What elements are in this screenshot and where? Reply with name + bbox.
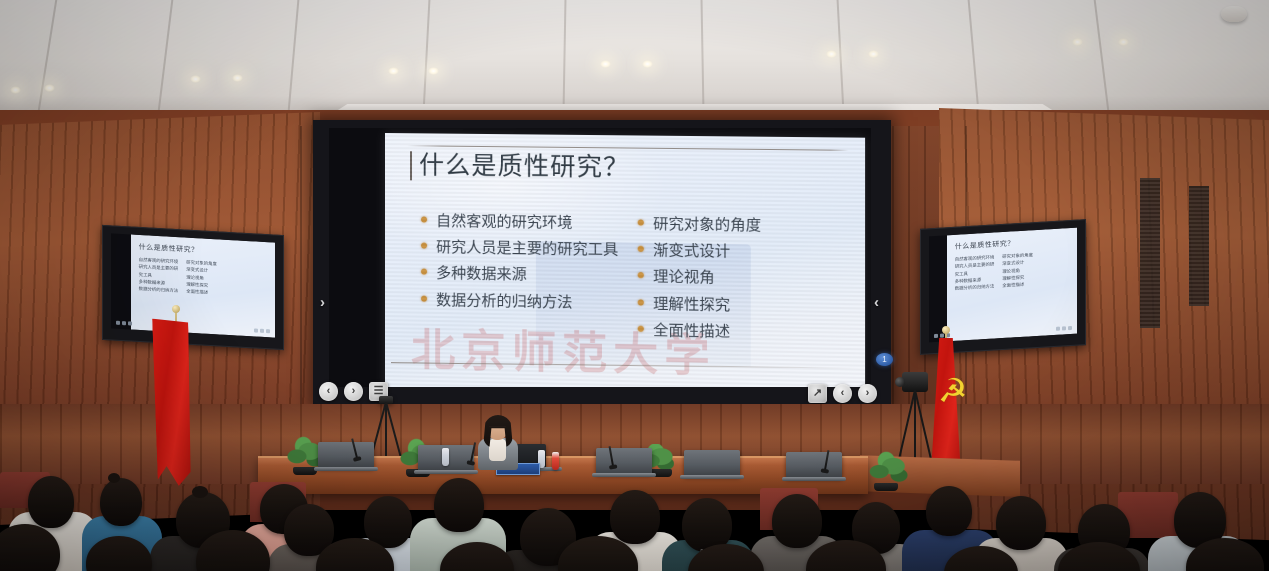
hammer-sickle-icon: ☭ bbox=[938, 372, 958, 412]
water-bottle bbox=[442, 448, 449, 466]
presenter-shirt bbox=[489, 439, 506, 461]
forward-button[interactable]: › bbox=[344, 382, 363, 401]
left-side-monitor[interactable]: 什么是质性研究？ 自然客观的研究环境 研究人员是主要的研 究工具 多种数据来源 … bbox=[102, 225, 284, 350]
ceiling-light bbox=[44, 84, 55, 92]
slide-bullets-left: 自然客观的研究环境 研究人员是主要的研究工具 多种数据来源 数据分析的归纳方法 bbox=[419, 209, 626, 318]
screen-left-edge-arrow[interactable]: › bbox=[320, 294, 325, 311]
ceiling-light bbox=[1072, 38, 1083, 46]
ceiling-light bbox=[600, 60, 611, 68]
screen-controls-right[interactable]: ↗ ‹ › bbox=[808, 384, 877, 403]
ceiling-light bbox=[868, 50, 879, 58]
slide-title: 什么是质性研究？ bbox=[410, 151, 630, 182]
list-item: 自然客观的研究环境 bbox=[419, 209, 626, 234]
ceiling-light bbox=[388, 67, 399, 75]
smoke-detector-icon bbox=[1221, 6, 1247, 22]
slide-bullets-right: 研究对象的角度 渐变式设计 理论视角 理解性探究 全面性描述 bbox=[636, 212, 842, 348]
right-flag-knob bbox=[942, 326, 950, 334]
projection-screen[interactable]: 北京师范大学 什么是质性研究？ 自然客观的研究环境 研究人员是主要的研究工具 多… bbox=[329, 128, 871, 387]
next-slide-button[interactable]: › bbox=[858, 384, 877, 403]
list-item: 全面性描述 bbox=[636, 318, 842, 344]
list-item: 理论视角 bbox=[636, 265, 842, 291]
ceiling-light bbox=[826, 50, 837, 58]
back-button[interactable]: ‹ bbox=[319, 382, 338, 401]
prev-slide-button[interactable]: ‹ bbox=[833, 384, 852, 403]
screen-right-edge-arrow[interactable]: ‹ bbox=[874, 294, 879, 311]
audience: acmé de la vie ADLV bbox=[0, 470, 1269, 571]
wall-speaker bbox=[1189, 186, 1209, 306]
ceiling-light bbox=[232, 74, 243, 82]
footer-rule bbox=[391, 362, 859, 369]
list-item: 多种数据来源 bbox=[419, 262, 626, 288]
list-item: 理解性探究 bbox=[636, 292, 842, 318]
presentation-slide[interactable]: 北京师范大学 什么是质性研究？ 自然客观的研究环境 研究人员是主要的研究工具 多… bbox=[385, 133, 865, 387]
glasses-icon bbox=[489, 426, 506, 430]
lecture-hall-scene: 北京师范大学 什么是质性研究？ 自然客观的研究环境 研究人员是主要的研究工具 多… bbox=[0, 0, 1269, 571]
list-item: 渐变式设计 bbox=[636, 239, 842, 265]
ceiling-light bbox=[428, 67, 439, 75]
wall-speaker bbox=[1140, 178, 1160, 328]
water-bottle bbox=[552, 452, 559, 470]
left-monitor-indicator bbox=[116, 321, 132, 326]
share-button[interactable]: ↗ bbox=[808, 384, 827, 403]
laptop[interactable] bbox=[318, 442, 374, 468]
list-item: 研究人员是主要的研究工具 bbox=[419, 236, 626, 261]
left-monitor-col-right: 研究对象的角度 渐变式设计 理论视角 理解性探究 全面性描述 bbox=[186, 260, 217, 298]
right-monitor-slide: 什么是质性研究？ 自然客观的研究环境 研究人员是主要的研 究工具 多种数据来源 … bbox=[947, 228, 1077, 342]
left-monitor-dots bbox=[254, 328, 270, 333]
right-monitor-screen: 什么是质性研究？ 自然客观的研究环境 研究人员是主要的研 究工具 多种数据来源 … bbox=[929, 228, 1077, 343]
left-monitor-title: 什么是质性研究？ bbox=[139, 242, 199, 255]
camera-lens-icon bbox=[895, 377, 905, 387]
right-monitor-col-right: 研究对象的角度 渐变式设计 理论视角 理解性探究 全面性描述 bbox=[1002, 252, 1033, 290]
left-flag-knob bbox=[172, 305, 180, 313]
red-flag bbox=[152, 317, 194, 486]
list-item: 研究对象的角度 bbox=[636, 212, 842, 237]
left-monitor-col-left: 自然客观的研究环境 研究人员是主要的研 究工具 多种数据来源 数据分析的归纳方法 bbox=[139, 257, 179, 296]
presenter bbox=[474, 418, 522, 468]
ceiling-light bbox=[642, 60, 653, 68]
left-monitor-screen: 什么是质性研究？ 自然客观的研究环境 研究人员是主要的研 究工具 多种数据来源 … bbox=[111, 233, 275, 337]
right-monitor-title: 什么是质性研究？ bbox=[955, 238, 1015, 252]
ceiling-light bbox=[10, 86, 21, 94]
ceiling-light bbox=[1118, 38, 1129, 46]
right-monitor-col-left: 自然客观的研究环境 研究人员是主要的研 究工具 多种数据来源 数据分析的归纳方法 bbox=[955, 255, 995, 294]
right-monitor-dots bbox=[1056, 326, 1072, 331]
ceiling-light bbox=[190, 75, 201, 83]
slide-number-badge: 1 bbox=[876, 353, 893, 366]
list-item: 数据分析的归纳方法 bbox=[419, 288, 626, 314]
